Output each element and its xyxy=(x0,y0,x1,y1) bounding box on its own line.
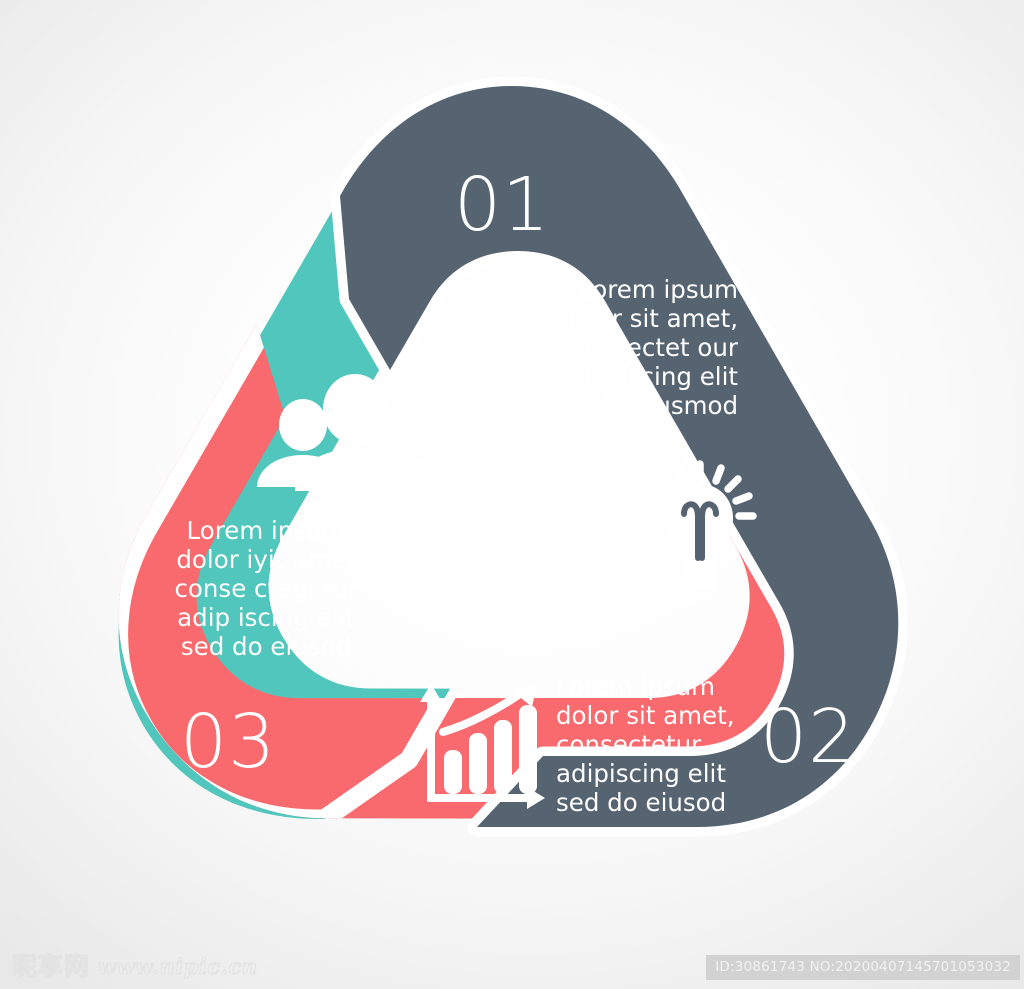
segment-03-body-text: Lorem ipsum dolor iyit amet conse ctegj … xyxy=(150,517,382,662)
nipic-logo-url-text: www.nipic.cn xyxy=(98,956,258,977)
watermark-id-badge: ID:30861743 NO:20200407145701053032 xyxy=(706,955,1020,980)
segment-01-body-text: Lorem ipsum dolor sit amet, cons ectet o… xyxy=(440,276,738,421)
segment-02-number: 02 xyxy=(760,700,856,774)
nipic-logo-cjk-text: 昵享网 xyxy=(12,954,90,979)
footer-watermark-bar: 昵享网 www.nipic.cn ID:30861743 NO:20200407… xyxy=(0,937,1024,989)
segment-03-number: 03 xyxy=(180,705,276,779)
infographic-svg xyxy=(0,0,1024,940)
infographic-diagram: 01 Lorem ipsum dolor sit amet, cons ecte… xyxy=(0,0,1024,940)
segment-02-body-text: Lorem ipsum dolor sit amet, consectetur … xyxy=(556,673,748,818)
segment-01-number: 01 xyxy=(454,168,550,242)
nipic-logo: 昵享网 www.nipic.cn xyxy=(12,954,258,979)
